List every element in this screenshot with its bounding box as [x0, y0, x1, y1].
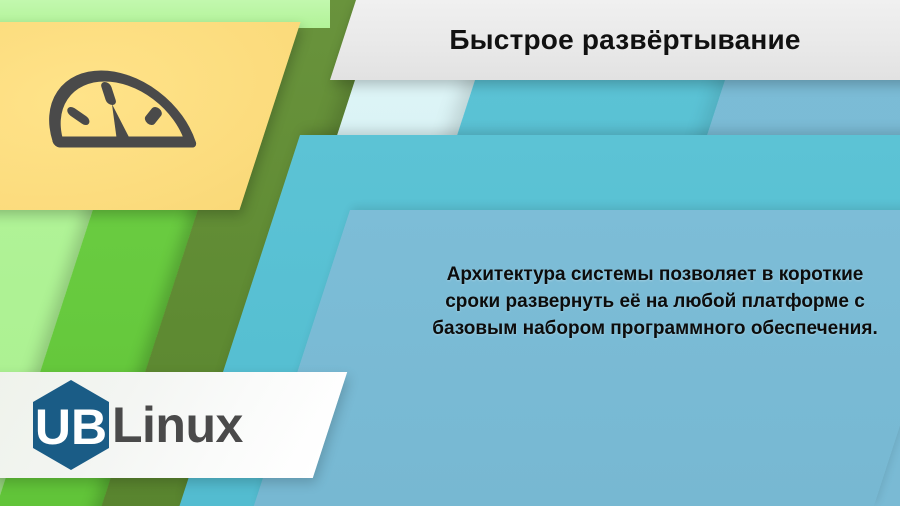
content-panel-inner	[254, 210, 900, 506]
slide-title: Быстрое развёртывание	[350, 0, 900, 80]
ub-hexagon-logo-icon: UB	[30, 378, 112, 472]
ublinux-logo: UB Linux	[30, 378, 243, 472]
slide-canvas: UB Быстрое развёртывание Архитектура сис…	[0, 0, 900, 506]
ub-mark-text: UB	[35, 399, 107, 455]
logo-wordmark: Linux	[112, 400, 243, 450]
slide-body-text: Архитектура системы позволяет в короткие…	[420, 262, 890, 343]
